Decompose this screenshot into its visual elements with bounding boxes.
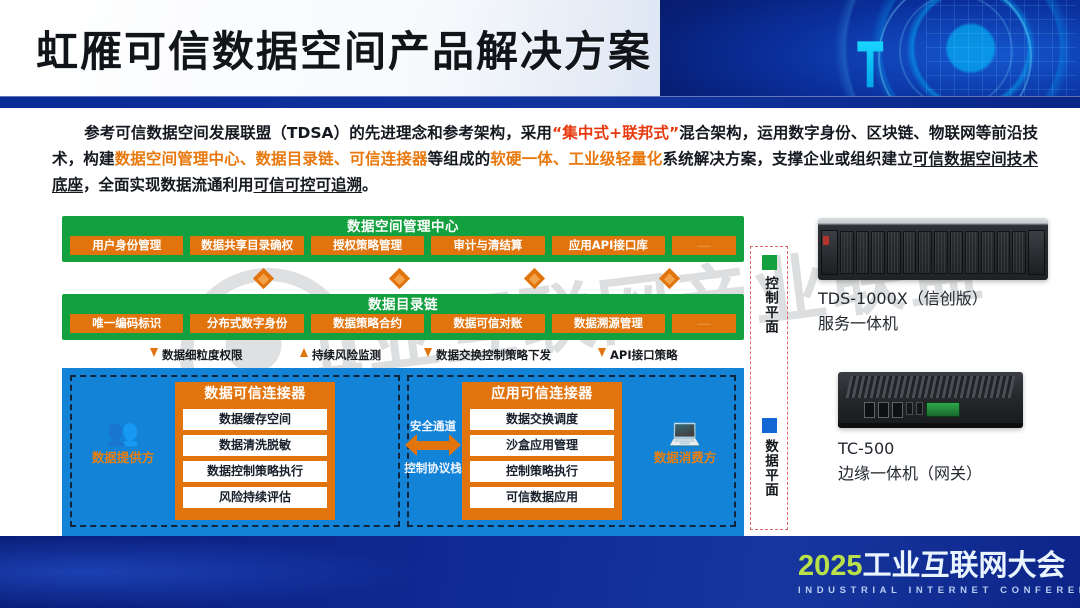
gateway-terminal-block	[926, 402, 960, 417]
connector-item-data-exchange-scheduling[interactable]: 数据交换调度	[470, 409, 614, 430]
gateway-ethernet-port	[878, 402, 889, 418]
flow-arrow-down-2-icon	[424, 348, 432, 357]
band-connector-diamonds	[62, 268, 744, 292]
server-drive-bay	[934, 231, 948, 274]
server-drive-bay	[950, 231, 964, 274]
server-drive-bay	[981, 231, 995, 274]
product-tds-1000x-subtitle: 服务一体机	[818, 311, 1048, 336]
flow-arrow-down-3-icon	[598, 348, 606, 357]
gateway-port-cluster	[864, 402, 960, 418]
policy-flow-labels-row: 数据细粒度权限 持续风险监测 数据交换控制策略下发 API接口策略	[62, 345, 744, 367]
server-drive-bay	[903, 231, 917, 274]
slide-root: 虹雁可信数据空间产品解决方案 参考可信数据空间发展联盟（TDSA）的先进理念和参…	[0, 0, 1080, 608]
application-trusted-connector-card: 应用可信连接器 数据交换调度 沙盒应用管理 控制策略执行 可信数据应用	[462, 382, 622, 520]
flow-label-fine-grained-permission: 数据细粒度权限	[162, 345, 243, 365]
connector-item-control-policy-execution[interactable]: 控制策略执行	[470, 461, 614, 482]
diamond-connector-2-icon	[389, 268, 410, 289]
paragraph-segment-3: 等组成的	[428, 150, 491, 168]
legend-label-data-plane: 数据平面	[760, 439, 778, 497]
header-decorative-graphic	[660, 0, 1080, 100]
application-trusted-connector-title: 应用可信连接器	[462, 382, 622, 404]
application-trusted-connector-items: 数据交换调度 沙盒应用管理 控制策略执行 可信数据应用	[462, 409, 622, 514]
paragraph-highlight-components: 数据空间管理中心、数据目录链、可信连接器	[115, 150, 428, 168]
chip-authorization-policy-management[interactable]: 授权策略管理	[311, 236, 424, 255]
server-drive-bays	[840, 231, 1026, 274]
paragraph-underline-traceable: 可信可控可追溯	[254, 176, 363, 194]
chip-band2-more[interactable]: ……	[672, 314, 736, 333]
gateway-base-plate	[838, 423, 1023, 428]
data-trusted-connector-card: 数据可信连接器 数据缓存空间 数据清洗脱敏 数据控制策略执行 风险持续评估	[175, 382, 335, 520]
gateway-heatsink-fins	[846, 376, 1016, 398]
data-trusted-connector-items: 数据缓存空间 数据清洗脱敏 数据控制策略执行 风险持续评估	[175, 409, 335, 514]
chip-band1-more[interactable]: ……	[672, 236, 736, 255]
header-circuit-grid-icon	[926, 0, 1076, 100]
data-trusted-connector-title: 数据可信连接器	[175, 382, 335, 404]
connector-item-trusted-data-application[interactable]: 可信数据应用	[470, 487, 614, 508]
chip-data-trusted-reconciliation[interactable]: 数据可信对账	[431, 314, 544, 333]
actor-data-provider: 👥 数据提供方	[80, 418, 166, 465]
arrow-head-right-icon	[449, 434, 461, 456]
chip-unique-code-identifier[interactable]: 唯一编码标识	[70, 314, 183, 333]
band2-title: 数据目录链	[66, 297, 740, 314]
chip-distributed-digital-identity[interactable]: 分布式数字身份	[190, 314, 303, 333]
server-drive-bay	[840, 231, 854, 274]
flow-label-continuous-risk-monitoring: 持续风险监测	[312, 345, 381, 365]
conference-logo-line1: 2025工业互联网大会	[798, 550, 1080, 582]
actor-data-consumer-label: 数据消费方	[654, 450, 717, 465]
connector-item-data-cache-space[interactable]: 数据缓存空间	[183, 409, 327, 430]
band2-chip-row: 唯一编码标识 分布式数字身份 数据策略合约 数据可信对账 数据溯源管理 ……	[66, 314, 740, 333]
conference-name-cn: 工业互联网大会	[863, 550, 1066, 582]
diamond-connector-3-icon	[524, 268, 545, 289]
server-drive-bay	[1012, 231, 1026, 274]
product-tds-1000x-name: TDS-1000X（信创版）	[818, 286, 1048, 311]
gateway-usb-port	[906, 402, 913, 415]
band1-chip-row: 用户身份管理 数据共享目录确权 授权策略管理 审计与清结算 应用API接口库 ……	[66, 236, 740, 255]
chip-data-policy-contract[interactable]: 数据策略合约	[311, 314, 424, 333]
flow-label-exchange-control-policy-dispatch: 数据交换控制策略下发	[436, 345, 551, 365]
paragraph-segment-6: 。	[362, 176, 378, 194]
slide-footer: 2025工业互联网大会 INDUSTRIAL INTERNET CONFEREN…	[0, 536, 1080, 608]
server-drive-bay	[918, 231, 932, 274]
legend-swatch-data-plane	[762, 418, 777, 433]
legend-swatch-control-plane	[762, 255, 777, 270]
rack-server-icon	[818, 218, 1048, 280]
connector-item-sandbox-application-management[interactable]: 沙盒应用管理	[470, 435, 614, 456]
gateway-ethernet-port	[864, 402, 875, 418]
paragraph-highlight-feature: 软硬一体、工业级轻量化	[490, 150, 662, 168]
people-icon: 👥	[80, 418, 166, 448]
connector-item-data-cleansing-masking[interactable]: 数据清洗脱敏	[183, 435, 327, 456]
conference-logo: 2025工业互联网大会 INDUSTRIAL INTERNET CONFEREN…	[798, 550, 1080, 596]
chip-audit-and-settlement[interactable]: 审计与清结算	[431, 236, 544, 255]
chip-data-provenance-management[interactable]: 数据溯源管理	[552, 314, 665, 333]
paragraph-highlight-architecture: “集中式+联邦式”	[552, 124, 679, 142]
slide-header: 虹雁可信数据空间产品解决方案	[0, 0, 1080, 100]
paragraph-segment-4: 系统解决方案，支撑企业或组织建立	[662, 150, 912, 168]
paragraph-segment-5: ，全面实现数据流通利用	[83, 176, 254, 194]
footer-glow	[0, 536, 420, 608]
actor-data-provider-label: 数据提供方	[92, 450, 155, 465]
server-drive-bay	[997, 231, 1011, 274]
edge-gateway-icon	[838, 372, 1023, 428]
product-tds-1000x: TDS-1000X（信创版） 服务一体机	[818, 218, 1048, 336]
flow-label-api-interface-policy: API接口策略	[610, 345, 678, 365]
diamond-connector-4-icon	[659, 268, 680, 289]
bidirectional-channel-arrow-icon	[405, 434, 461, 456]
server-drive-bay	[856, 231, 870, 274]
product-tc-500-captions: TC-500 边缘一体机（网关）	[838, 436, 1023, 486]
server-drive-bay	[871, 231, 885, 274]
person-laptop-icon: 💻	[642, 418, 728, 448]
header-divider-bar	[0, 96, 1080, 108]
band-data-catalog-chain: 数据目录链 唯一编码标识 分布式数字身份 数据策略合约 数据可信对账 数据溯源管…	[62, 294, 744, 340]
server-ear-right	[1028, 230, 1045, 275]
legend-label-control-plane: 控制平面	[760, 276, 778, 334]
product-tc-500-subtitle: 边缘一体机（网关）	[838, 461, 1023, 486]
gateway-usb-port	[916, 402, 923, 415]
connector-item-data-control-policy-execution[interactable]: 数据控制策略执行	[183, 461, 327, 482]
connector-item-continuous-risk-assessment[interactable]: 风险持续评估	[183, 487, 327, 508]
chip-application-api-library[interactable]: 应用API接口库	[552, 236, 665, 255]
product-tc-500-name: TC-500	[838, 436, 1023, 461]
band-data-space-management-center: 数据空间管理中心 用户身份管理 数据共享目录确权 授权策略管理 审计与清结算 应…	[62, 216, 744, 262]
architecture-diagram: 数据空间管理中心 用户身份管理 数据共享目录确权 授权策略管理 审计与清结算 应…	[62, 216, 774, 536]
data-plane-panel: 👥 数据提供方 💻 数据消费方 数据可信连接器 数据缓存空间 数据清洗脱敏 数据…	[62, 368, 744, 536]
band1-title: 数据空间管理中心	[66, 219, 740, 236]
flow-arrow-up-1-icon	[300, 348, 308, 357]
conference-year: 2025	[798, 550, 863, 582]
chip-user-identity-management[interactable]: 用户身份管理	[70, 236, 183, 255]
server-drive-bay	[887, 231, 901, 274]
plane-legend: 控制平面 数据平面	[750, 246, 788, 530]
actor-data-consumer: 💻 数据消费方	[642, 418, 728, 465]
intro-paragraph: 参考可信数据空间发展联盟（TDSA）的先进理念和参考架构，采用“集中式+联邦式”…	[52, 120, 1038, 198]
server-drive-bay	[965, 231, 979, 274]
conference-name-en: INDUSTRIAL INTERNET CONFERENCE	[798, 585, 1080, 596]
arrow-shaft	[415, 441, 451, 450]
product-tds-1000x-captions: TDS-1000X（信创版） 服务一体机	[818, 286, 1048, 336]
diamond-connector-1-icon	[253, 268, 274, 289]
server-power-led-icon	[823, 236, 829, 245]
gateway-ethernet-port	[892, 402, 903, 418]
product-tc-500: TC-500 边缘一体机（网关）	[838, 372, 1023, 486]
paragraph-segment-1: 参考可信数据空间发展联盟（TDSA）的先进理念和参考架构，采用	[84, 124, 552, 142]
page-title: 虹雁可信数据空间产品解决方案	[36, 18, 652, 79]
chip-data-sharing-catalog-rights[interactable]: 数据共享目录确权	[190, 236, 303, 255]
flow-arrow-down-1-icon	[150, 348, 158, 357]
